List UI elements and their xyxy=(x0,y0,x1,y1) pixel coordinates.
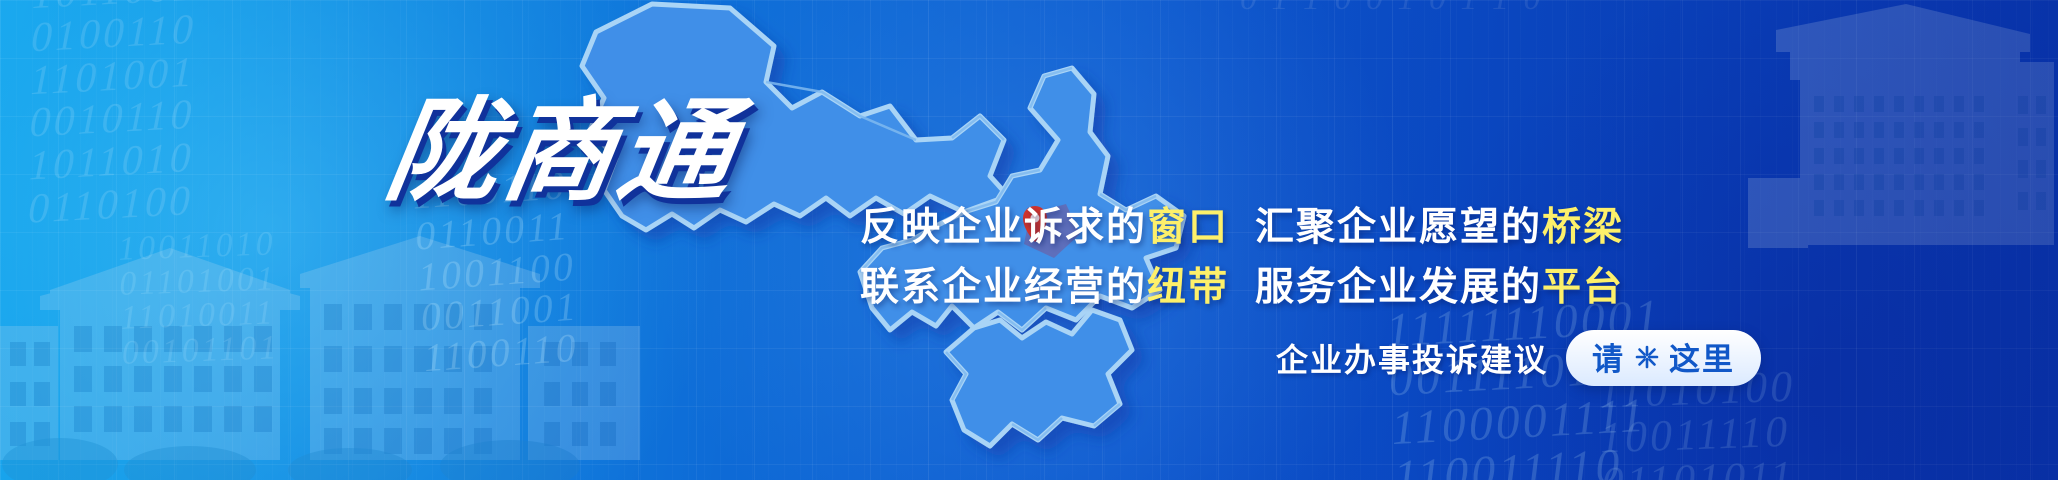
slogan-2-highlight-b: 平台 xyxy=(1542,266,1624,309)
cta-label: 企业办事投诉建议 xyxy=(1276,335,1548,381)
brand-title: 陇商通 xyxy=(379,96,745,208)
slogan-1-plain-b: 汇聚企业愿望的 xyxy=(1255,206,1542,249)
cta-row: 企业办事投诉建议 请 xyxy=(1276,330,1761,386)
slogan-2-plain-b: 服务企业发展的 xyxy=(1255,266,1542,309)
slogan-1-highlight-b: 桥梁 xyxy=(1542,206,1624,249)
cta-button-prefix: 请 xyxy=(1592,334,1625,379)
slogan-1-plain-a: 反映企业诉求的 xyxy=(860,206,1147,249)
promo-banner: 1011001 0100110 1101001 0010110 1011010 … xyxy=(0,0,2058,480)
cta-button-suffix: 这里 xyxy=(1669,334,1735,379)
sparkle-click-icon xyxy=(1633,343,1661,371)
slogan-line-2: 联系企业经营的纽带服务企业发展的平台 xyxy=(860,256,1624,312)
slogan-line-1: 反映企业诉求的窗口汇聚企业愿望的桥梁 xyxy=(860,196,1624,252)
slogan-2-highlight-a: 纽带 xyxy=(1147,266,1229,309)
slogan-1-highlight-a: 窗口 xyxy=(1147,206,1229,249)
slogan-2-plain-a: 联系企业经营的 xyxy=(860,266,1147,309)
banner-content: 陇商通 反映企业诉求的窗口汇聚企业愿望的桥梁 联系企业经营的纽带服务企业发展的平… xyxy=(0,0,2058,480)
click-here-button[interactable]: 请 这里 xyxy=(1566,330,1761,386)
